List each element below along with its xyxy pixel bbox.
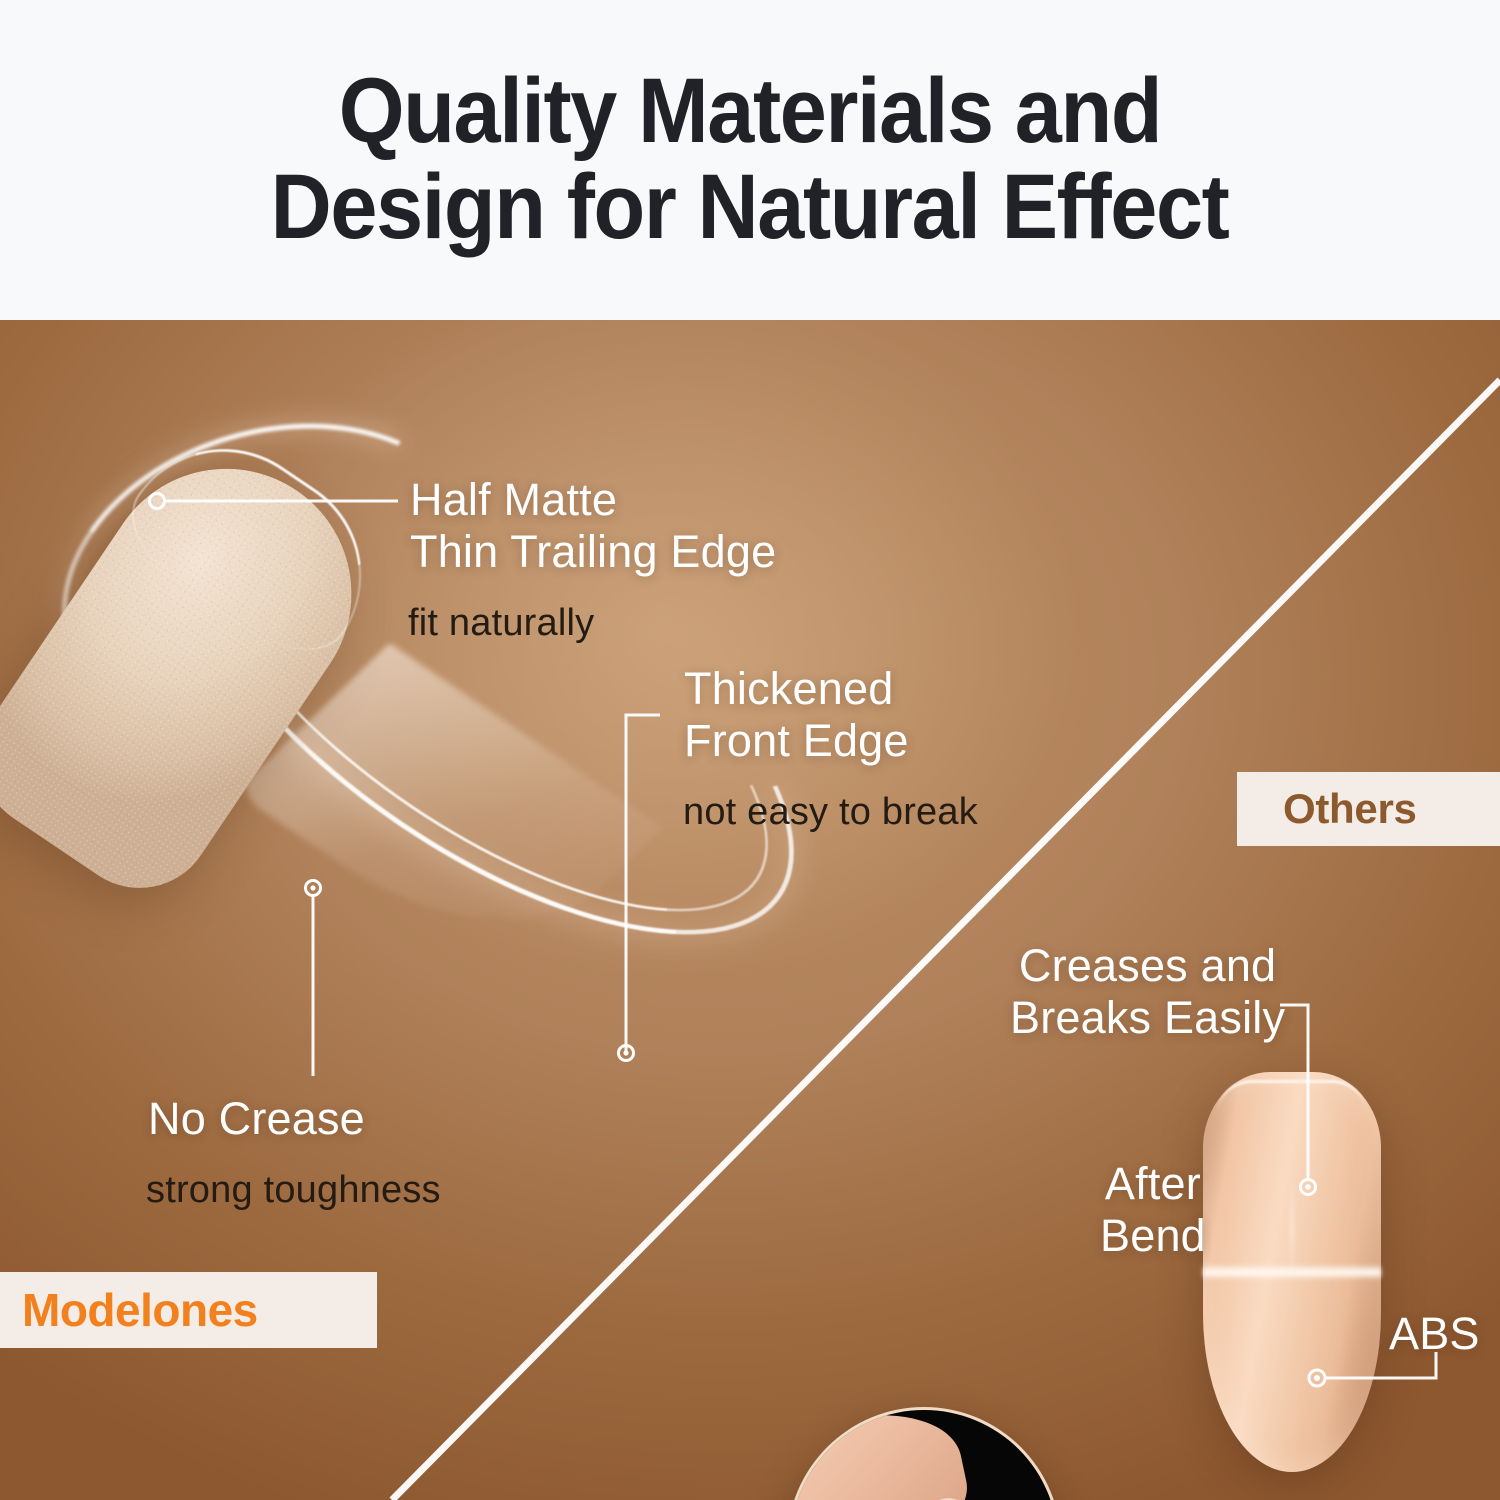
callout-subtitle-fit-naturally: fit naturally <box>408 601 594 647</box>
callout-label-abs-material: ABS <box>1389 1308 1480 1360</box>
abs-nail-top-gloss <box>1217 1080 1367 1127</box>
abs-nail-vertical-crease <box>1290 1176 1294 1280</box>
brand-badge-others: Others <box>1237 772 1500 846</box>
callout-label-after-bend: After Bend <box>1100 1158 1206 1262</box>
header-banner: Quality Materials and Design for Natural… <box>0 0 1500 320</box>
brand-badge-modelones-label: Modelones <box>22 1283 258 1337</box>
callout-subtitle-strong-toughness: strong toughness <box>146 1168 441 1214</box>
callout-title-no-crease: No Crease <box>148 1093 365 1145</box>
callout-title-half-matte: Half Matte Thin Trailing Edge <box>410 474 776 578</box>
thumb-finger <box>790 1410 978 1500</box>
brand-badge-modelones: Modelones <box>0 1272 377 1348</box>
page-title-line-1: Quality Materials and <box>339 64 1161 160</box>
callout-subtitle-not-easy-to-break: not easy to break <box>683 790 978 836</box>
page-title-line-2: Design for Natural Effect <box>271 160 1229 256</box>
infographic-canvas: Quality Materials and Design for Natural… <box>0 0 1500 1500</box>
callout-title-thickened-front-edge: Thickened Front Edge <box>684 663 909 767</box>
others-abs-nail <box>1203 1072 1381 1472</box>
brand-badge-others-label: Others <box>1283 785 1417 833</box>
bend-demo-photo <box>790 1410 1058 1500</box>
callout-title-creases-breaks-easily: Creases and Breaks Easily <box>1010 940 1285 1044</box>
